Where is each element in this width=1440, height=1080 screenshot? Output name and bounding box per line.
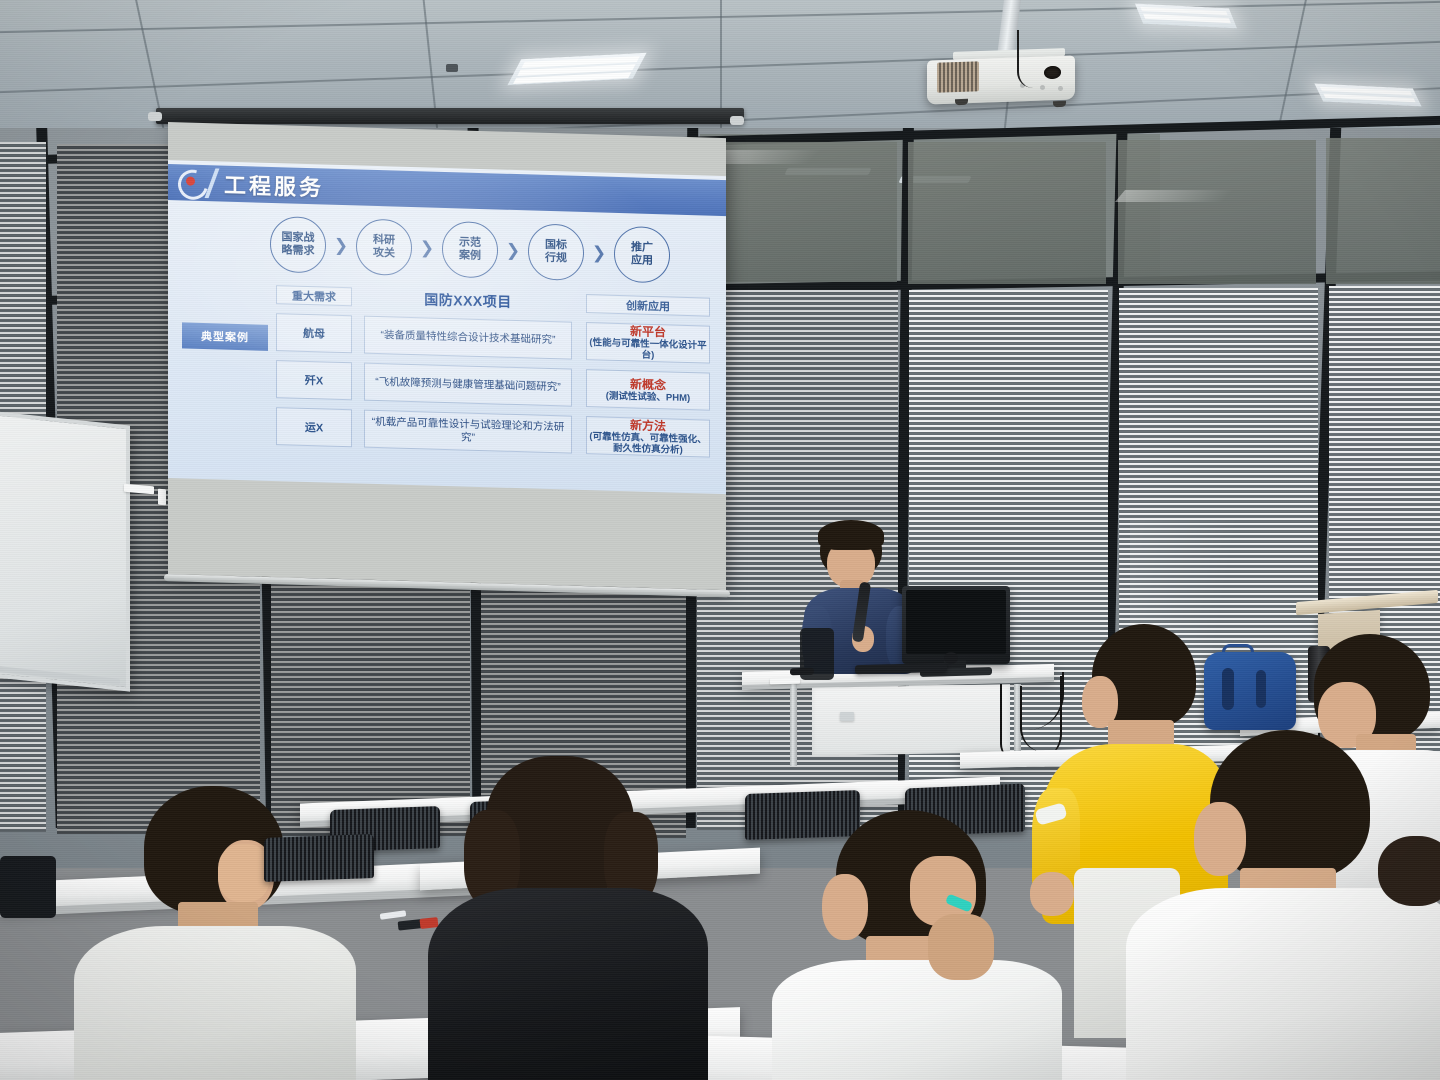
projector-cable (1017, 30, 1037, 88)
smartphone (790, 668, 814, 676)
company-circle-logo-icon (176, 167, 206, 198)
student-mid-center (800, 810, 1040, 1080)
flow-arrow-icon: ❯ (592, 243, 606, 263)
monitor-screen (906, 590, 1006, 654)
projector-foot (1053, 101, 1066, 107)
column-header-needs: 重大需求 (276, 285, 352, 306)
presentation-slide: 工程服务 国家战 略需求 ❯ 科研 攻关 ❯ 示范 (168, 160, 726, 494)
table-row: 歼X (276, 360, 352, 400)
slide-header: 工程服务 (168, 164, 726, 216)
mouse (944, 652, 958, 664)
table-row: 航母 (276, 313, 352, 353)
chair (264, 834, 374, 882)
power-cable (1000, 684, 1016, 760)
flow-node-1-line2: 略需求 (282, 244, 315, 258)
column-header-projects: 国防XXX项目 (364, 288, 572, 313)
table-side-label: 典型案例 (182, 322, 268, 350)
student-front-center-shirt (428, 888, 708, 1080)
wall-whiteboard (0, 410, 130, 691)
student-front-left-hand (218, 844, 270, 902)
flow-node-2-line2: 攻关 (373, 247, 395, 261)
presenter-desk-leg (790, 684, 797, 766)
flow-node-5-line1: 推广 (631, 241, 653, 255)
flow-node-5: 推广 应用 (614, 226, 670, 284)
projector-vent (937, 61, 979, 92)
glass-pane-upper (908, 142, 1106, 284)
glass-pane-upper (1326, 138, 1440, 284)
student-front-center (440, 756, 700, 1080)
flow-node-4-line2: 行规 (545, 252, 567, 266)
table-row: 新平台 (性能与可靠性一体化设计平台) (586, 322, 710, 364)
column-header-innovation: 创新应用 (586, 294, 710, 317)
projector-indicator (1040, 85, 1045, 90)
paper-note (770, 678, 800, 685)
table-row: 新概念 (测试性试验、PHM) (586, 369, 710, 411)
flow-arrow-icon: ❯ (420, 238, 434, 258)
flow-node-5-line2: 应用 (631, 254, 653, 268)
classroom-photo: 工程服务 国家战 略需求 ❯ 科研 攻关 ❯ 示范 (0, 0, 1440, 1080)
student-right-front-ear (1194, 802, 1246, 876)
desk-label (840, 712, 854, 721)
innovation-title: 新方法 (630, 418, 666, 433)
flow-node-4-line1: 国标 (545, 239, 567, 253)
table-row: 运X (276, 407, 352, 447)
innovation-title: 新平台 (630, 324, 666, 339)
backpack-strap (1256, 670, 1266, 708)
projector-foot (955, 99, 968, 105)
table-column-needs: 重大需求 航母 歼X 运X (276, 285, 352, 447)
process-flow: 国家战 略需求 ❯ 科研 攻关 ❯ 示范 案例 ❯ 国标 (270, 215, 670, 285)
flow-node-1: 国家战 略需求 (270, 216, 326, 274)
table-row: “飞机故障预测与健康管理基础问题研究” (364, 363, 572, 407)
innovation-subtitle: (测试性试验、PHM) (606, 390, 690, 403)
table-row: 新方法 (可靠性仿真、可靠性强化、耐久性仿真分析) (586, 416, 710, 458)
table-row: “机载产品可靠性设计与试验理论和方法研究” (364, 410, 572, 454)
flow-node-2: 科研 攻关 (356, 218, 412, 276)
glass-reflection (1115, 190, 1305, 202)
innovation-subtitle: (性能与可靠性一体化设计平台) (589, 337, 707, 362)
student-mid-center-shirt (772, 960, 1062, 1080)
whiteboard-marker (380, 910, 407, 920)
flow-node-4: 国标 行规 (528, 223, 584, 281)
innovation-title: 新概念 (630, 377, 666, 392)
table-column-projects: 国防XXX项目 “装备质量特性综合设计技术基础研究” “飞机故障预测与健康管理基… (364, 288, 572, 454)
table-row: “装备质量特性综合设计技术基础研究” (364, 316, 572, 360)
student-mid-center-ear (822, 874, 868, 940)
student-edge-right-hair (1378, 836, 1440, 906)
flow-arrow-icon: ❯ (334, 236, 348, 256)
flow-node-2-line1: 科研 (373, 234, 395, 248)
flow-node-3-line2: 案例 (459, 249, 481, 263)
innovation-subtitle: (可靠性仿真、可靠性强化、耐久性仿真分析) (589, 431, 707, 456)
smoke-detector-icon (446, 64, 458, 72)
screen-roller-case (156, 108, 744, 124)
flow-arrow-icon: ❯ (506, 241, 520, 261)
student-front-left-shirt (74, 926, 356, 1080)
screen-end-cap (148, 112, 162, 121)
flow-node-1-line1: 国家战 (282, 231, 315, 245)
student-front-left (92, 786, 342, 1080)
chair (0, 856, 56, 918)
slide-title: 工程服务 (224, 168, 324, 203)
glass-pane-upper (1118, 140, 1316, 284)
student-mid-center-forearm (928, 914, 994, 980)
student-edge-right (1378, 836, 1440, 956)
presenter-hair-top (818, 520, 884, 550)
desktop-monitor (902, 586, 1010, 664)
flow-node-3-line1: 示范 (459, 236, 481, 250)
slide-table: 典型案例 重大需求 航母 歼X 运X 国防XXX项目 “装备质量特性综合设计技术… (182, 282, 714, 485)
screen-surface: 工程服务 国家战 略需求 ❯ 科研 攻关 ❯ 示范 (168, 122, 726, 590)
screen-end-cap (730, 116, 744, 125)
pull-down-projection-screen: 工程服务 国家战 略需求 ❯ 科研 攻关 ❯ 示范 (148, 108, 744, 608)
flow-node-3: 示范 案例 (442, 221, 498, 279)
projector-indicator (1058, 86, 1063, 91)
table-column-innovation: 创新应用 新平台 (性能与可靠性一体化设计平台) 新概念 (测试性试验、PHM)… (586, 294, 710, 458)
